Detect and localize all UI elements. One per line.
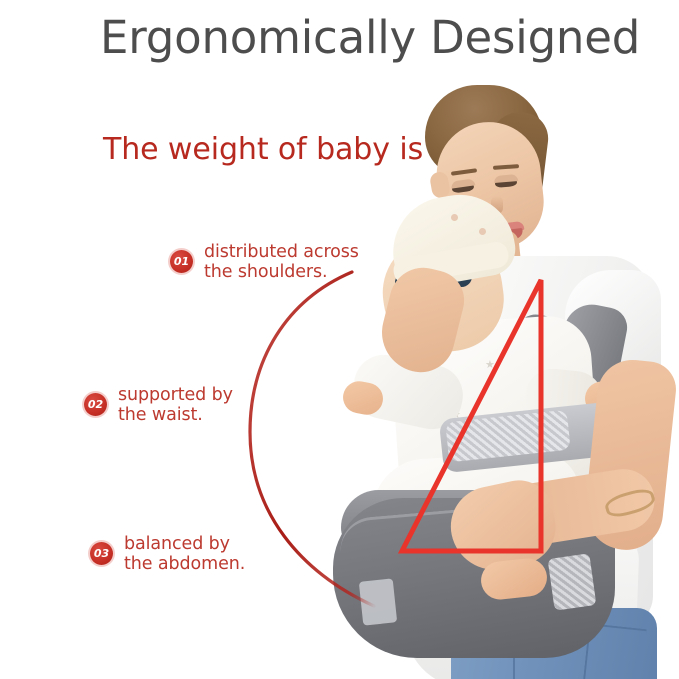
- page-title: Ergonomically Designed: [100, 12, 620, 64]
- callout-badge-02: 02: [84, 393, 107, 416]
- hipseat-mesh-panel: [548, 553, 597, 610]
- infographic-canvas: ★ ★ ★ ★ ★: [0, 0, 679, 679]
- callout-text-01: distributed across the shoulders.: [204, 243, 359, 282]
- callout-badge-01: 01: [170, 250, 193, 273]
- page-subtitle: The weight of baby is: [103, 132, 423, 168]
- callout-02: 02 supported by the waist.: [84, 386, 233, 425]
- hipseat-label-tag: [359, 578, 397, 625]
- hat-dot: [479, 228, 486, 235]
- callout-badge-03: 03: [90, 542, 113, 565]
- hat-dot: [451, 214, 458, 221]
- callout-text-02: supported by the waist.: [118, 386, 233, 425]
- callout-text-03: balanced by the abdomen.: [124, 535, 245, 574]
- callout-01: 01 distributed across the shoulders.: [170, 243, 359, 282]
- callout-03: 03 balanced by the abdomen.: [90, 535, 245, 574]
- onesie-star: ★: [485, 360, 495, 371]
